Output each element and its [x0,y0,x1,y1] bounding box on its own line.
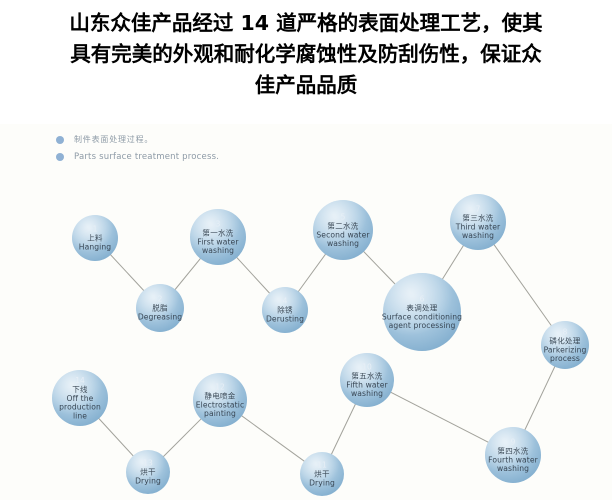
flow-edge [524,365,556,432]
node-number: 8 [563,327,568,336]
node-label-en: Drying [309,479,335,488]
node-number: 4 [283,297,288,306]
node-label-en: washing [351,389,383,398]
flow-node-1[interactable]: 1上料Hanging [72,215,118,261]
node-label-cn: 第一水洗 [202,227,233,237]
node-number: 10 [362,362,372,371]
flow-node-3[interactable]: 3第一水洗First waterwashing [190,209,246,265]
page-title-line-2: 具有完美的外观和耐化学腐蚀性及防刮伤性，保证众 [26,39,586,70]
node-label-cn: 烘干 [140,467,156,477]
node-number: 14 [75,376,85,385]
node-label-en: washing [462,231,494,240]
node-label-cn: 烘干 [314,469,330,479]
flow-node-2[interactable]: 2脱脂Degreasing [136,284,184,332]
flow-node-6[interactable]: 6表调处理Surface conditioningagent processin… [382,273,462,351]
node-label-cn: 第五水洗 [351,370,382,380]
node-label-en: agent processing [389,321,456,330]
flow-node-10[interactable]: 10第五水洗Fifth waterwashing [340,353,394,407]
node-label-cn: 磷化处理 [549,335,580,345]
flow-node-14[interactable]: 14下线Off theproductionline [52,370,108,426]
node-number: 11 [317,461,327,470]
node-label-en: Derusting [266,315,304,324]
node-label-cn: 脱脂 [152,303,168,313]
flow-node-4[interactable]: 4除锈Derusting [262,287,308,333]
page-title-line-1: 山东众佳产品经过 14 道严格的表面处理工艺，使其 [26,8,586,39]
node-label-en: Degreasing [138,313,182,322]
node-number: 9 [511,437,516,446]
node-label-en: line [73,411,87,420]
node-layer: 1上料Hanging2脱脂Degreasing3第一水洗First waterw… [52,194,589,496]
node-number: 2 [158,295,163,304]
flow-node-13[interactable]: 13烘干Drying [126,450,170,494]
flow-edge [174,257,202,291]
node-label-en: Drying [135,477,161,486]
flow-node-7[interactable]: 7第三水洗Third waterwashing [450,194,506,250]
node-label-cn: 下线 [72,384,88,394]
node-label-cn: 第三水洗 [462,212,493,222]
flow-node-5[interactable]: 5第二水洗Second waterwashing [313,200,373,260]
node-label-en: painting [204,409,236,418]
flow-node-9[interactable]: 9第四水洗Fourth waterwashing [485,427,541,483]
flow-edge [493,243,552,327]
page-title-line-3: 佳产品品质 [26,70,586,101]
flow-chart-canvas: 1上料Hanging2脱脂Degreasing3第一水洗First waterw… [0,124,612,500]
process-flow-diagram: 制件表面处理过程。 Parts surface treatment proces… [0,124,612,500]
node-label-en: washing [497,464,529,473]
node-label-cn: 除锈 [277,305,293,315]
node-label-cn: 上料 [87,233,103,243]
flow-edge [389,391,490,443]
flow-edge [297,253,326,293]
flow-edge [109,253,145,292]
node-label-cn: 第二水洗 [327,220,358,230]
node-label-en: washing [202,246,234,255]
edge-layer [98,243,556,462]
flow-edge [236,256,271,294]
flow-edge [362,250,396,285]
node-number: 13 [143,459,153,468]
flow-node-12[interactable]: 12静电喷金Electrostaticpainting [193,373,247,427]
flow-node-8[interactable]: 8磷化处理Parkerizingprocess [541,321,589,369]
flow-edge [162,418,202,458]
node-label-en: Hanging [79,243,112,252]
flow-edge [98,417,135,457]
node-label-cn: 第四水洗 [497,445,528,455]
node-label-en: washing [327,239,359,248]
node-number: 7 [476,204,481,213]
node-label-cn: 静电喷金 [204,390,235,400]
page-title: 山东众佳产品经过 14 道严格的表面处理工艺，使其 具有完美的外观和耐化学腐蚀性… [0,0,612,105]
flow-edge [442,244,465,281]
node-label-cn: 表调处理 [406,302,437,312]
node-label-en: process [550,354,580,363]
node-number: 1 [93,225,98,234]
flow-edge [331,403,357,457]
node-number: 5 [341,212,346,221]
flow-node-11[interactable]: 11烘干Drying [300,452,344,496]
node-number: 6 [420,294,425,303]
node-number: 3 [216,219,221,228]
flow-edge [240,415,306,463]
node-number: 12 [215,382,225,391]
